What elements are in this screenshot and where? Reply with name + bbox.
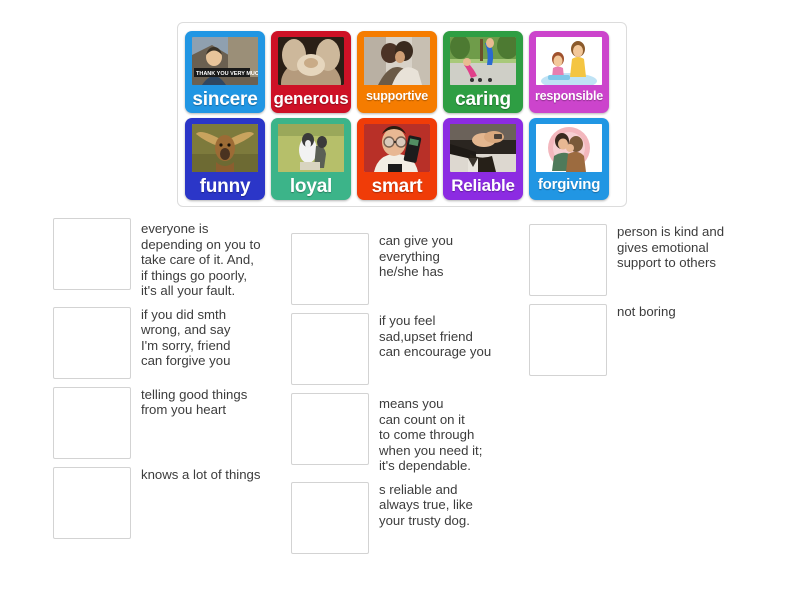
drop-zone[interactable] <box>53 467 131 539</box>
two-people-hugging-photo <box>364 37 430 85</box>
answer-item: knows a lot of things <box>53 467 296 539</box>
answer-text: means you can count on it to come throug… <box>369 393 534 474</box>
answer-text: can give you everything he/she has <box>369 233 534 280</box>
two-girls-cartoon-illustration <box>536 37 602 85</box>
word-tile-label: loyal <box>271 177 351 196</box>
answer-text: knows a lot of things <box>131 467 296 483</box>
drop-zone[interactable] <box>53 218 131 290</box>
answer-grid: everyone is depending on you to take car… <box>0 218 800 578</box>
answer-text: if you feel sad,upset friend can encoura… <box>369 313 534 360</box>
answer-text: telling good things from you heart <box>131 387 296 418</box>
answer-column-1: everyone is depending on you to take car… <box>53 218 296 547</box>
word-tile-tray: THANK YOU VERY MUCH sincere gen <box>177 22 627 207</box>
drop-zone[interactable] <box>291 313 369 385</box>
handshake-business-photo <box>450 124 516 172</box>
word-tile-forgiving[interactable]: forgiving <box>529 118 609 200</box>
answer-item: telling good things from you heart <box>53 387 296 459</box>
drop-zone[interactable] <box>291 482 369 554</box>
answer-item: not boring <box>529 304 772 376</box>
drop-zone[interactable] <box>53 387 131 459</box>
svg-text:THANK YOU VERY MUCH: THANK YOU VERY MUCH <box>196 71 258 77</box>
word-tile-reliable[interactable]: Reliable <box>443 118 523 200</box>
answer-column-2: can give you everything he/she has if yo… <box>291 218 534 562</box>
answer-text: not boring <box>607 304 772 320</box>
word-tile-label: supportive <box>357 90 437 103</box>
drop-zone[interactable] <box>529 304 607 376</box>
word-tile-funny[interactable]: funny <box>185 118 265 200</box>
answer-item: s reliable and always true, like your tr… <box>291 482 534 554</box>
word-tile-loyal[interactable]: loyal <box>271 118 351 200</box>
answer-item: means you can count on it to come throug… <box>291 393 534 474</box>
man-thank-you-very-much-photo: THANK YOU VERY MUCH <box>192 37 258 85</box>
word-tile-label: funny <box>185 177 265 196</box>
word-tile-sincere[interactable]: THANK YOU VERY MUCH sincere <box>185 31 265 113</box>
word-tile-generous[interactable]: generous <box>271 31 351 113</box>
dog-sitting-in-field-photo <box>278 124 344 172</box>
tile-row-1: THANK YOU VERY MUCH sincere gen <box>184 31 620 113</box>
drop-zone[interactable] <box>291 393 369 465</box>
answer-item: can give you everything he/she has <box>291 233 534 305</box>
drop-zone[interactable] <box>529 224 607 296</box>
answer-item: everyone is depending on you to take car… <box>53 218 296 299</box>
nerd-with-glasses-calculator-photo <box>364 124 430 172</box>
word-tile-responsible[interactable]: responsible <box>529 31 609 113</box>
two-people-embracing-illustration <box>536 124 602 172</box>
word-tile-supportive[interactable]: supportive <box>357 31 437 113</box>
answer-column-3: person is kind and gives emotional suppo… <box>529 218 772 384</box>
answer-item: person is kind and gives emotional suppo… <box>529 224 772 296</box>
word-tile-label: sincere <box>185 90 265 109</box>
cupped-hands-giving-photo <box>278 37 344 85</box>
word-tile-label: Reliable <box>443 177 523 194</box>
word-tile-label: responsible <box>529 90 609 103</box>
word-tile-smart[interactable]: smart <box>357 118 437 200</box>
adult-helping-child-skating-photo <box>450 37 516 85</box>
drop-zone[interactable] <box>53 307 131 379</box>
tile-row-2: funny loyal <box>184 118 620 200</box>
word-tile-label: forgiving <box>529 177 609 192</box>
word-tile-caring[interactable]: caring <box>443 31 523 113</box>
drop-zone[interactable] <box>291 233 369 305</box>
answer-text: person is kind and gives emotional suppo… <box>607 224 772 271</box>
word-tile-label: generous <box>271 90 351 107</box>
answer-text: everyone is depending on you to take car… <box>131 218 296 299</box>
answer-text: if you did smth wrong, and say I'm sorry… <box>131 307 296 369</box>
match-up-activity: THANK YOU VERY MUCH sincere gen <box>0 0 800 600</box>
word-tile-label: smart <box>357 177 437 196</box>
answer-item: if you feel sad,upset friend can encoura… <box>291 313 534 385</box>
word-tile-label: caring <box>443 90 523 109</box>
answer-text: s reliable and always true, like your tr… <box>369 482 534 529</box>
dog-with-flying-ears-photo <box>192 124 258 172</box>
answer-item: if you did smth wrong, and say I'm sorry… <box>53 307 296 379</box>
